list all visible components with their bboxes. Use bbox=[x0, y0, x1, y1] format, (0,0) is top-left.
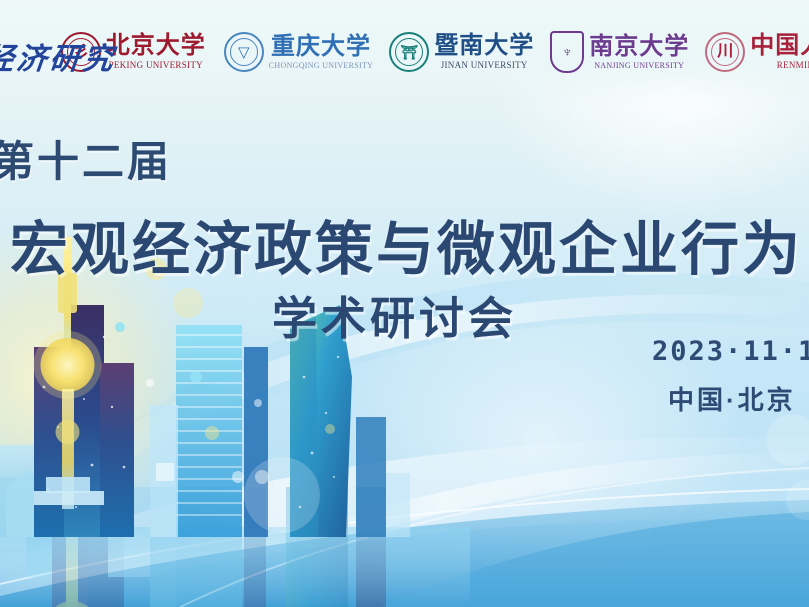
logo-cn-text: 南京大学 bbox=[589, 35, 689, 59]
conference-poster: 彡 北京大学 PEKING UNIVERSITY ▽ 重庆大学 CHONGQIN… bbox=[0, 0, 809, 607]
journal-wordmark-text: 经济研究 bbox=[0, 34, 118, 78]
nanjing-university-shield-icon: ♆ bbox=[550, 31, 584, 73]
event-date: 2023·11·11 bbox=[652, 336, 809, 367]
jinan-university-name: 暨南大学 JINAN UNIVERSITY bbox=[434, 34, 534, 70]
logo-cn-text: 北京大学 bbox=[106, 34, 206, 58]
logo-en-text: CHONGQING UNIVERSITY bbox=[269, 62, 373, 70]
page-title: 宏观经济政策与微观企业行为 bbox=[10, 202, 803, 286]
peking-university-name: 北京大学 PEKING UNIVERSITY bbox=[106, 34, 206, 70]
chongqing-university-name: 重庆大学 CHONGQING UNIVERSITY bbox=[269, 35, 373, 70]
logo-cn-text: 中国人民大学 bbox=[750, 34, 809, 58]
logo-en-text: PEKING UNIVERSITY bbox=[109, 61, 203, 70]
striped-skyscraper bbox=[150, 325, 268, 537]
page-subtitle: 学术研讨会 bbox=[272, 282, 517, 347]
logo-en-text: JINAN UNIVERSITY bbox=[441, 61, 528, 70]
nanjing-university-name: 南京大学 NANJING UNIVERSITY bbox=[589, 35, 689, 70]
chongqing-university-seal-icon: ▽ bbox=[224, 32, 264, 72]
event-location: 中国·北京 bbox=[668, 380, 796, 417]
renmin-university-name: 中国人民大学 RENMIN UNIVERSITY bbox=[750, 34, 809, 70]
logo-en-text: NANJING UNIVERSITY bbox=[594, 62, 684, 70]
renmin-university-seal-icon: 川 bbox=[705, 32, 745, 72]
logo-en-text: RENMIN UNIVERSITY bbox=[777, 61, 809, 70]
logo-economic-research-journal[interactable]: 经济研究 bbox=[0, 34, 116, 78]
jinan-university-seal-icon: ⛩ bbox=[389, 32, 429, 72]
edition-headline: 第十二届 bbox=[0, 128, 172, 189]
logo-chongqing-university[interactable]: ▽ 重庆大学 CHONGQING UNIVERSITY bbox=[220, 32, 377, 72]
logo-cn-text: 重庆大学 bbox=[271, 35, 371, 59]
logo-jinan-university[interactable]: ⛩ 暨南大学 JINAN UNIVERSITY bbox=[385, 32, 538, 72]
logo-nanjing-university[interactable]: ♆ 南京大学 NANJING UNIVERSITY bbox=[546, 31, 693, 73]
logo-renmin-university[interactable]: 川 中国人民大学 RENMIN UNIVERSITY bbox=[701, 32, 809, 72]
partner-logo-strip: 彡 北京大学 PEKING UNIVERSITY ▽ 重庆大学 CHONGQIN… bbox=[0, 0, 809, 104]
logo-cn-text: 暨南大学 bbox=[434, 34, 534, 58]
